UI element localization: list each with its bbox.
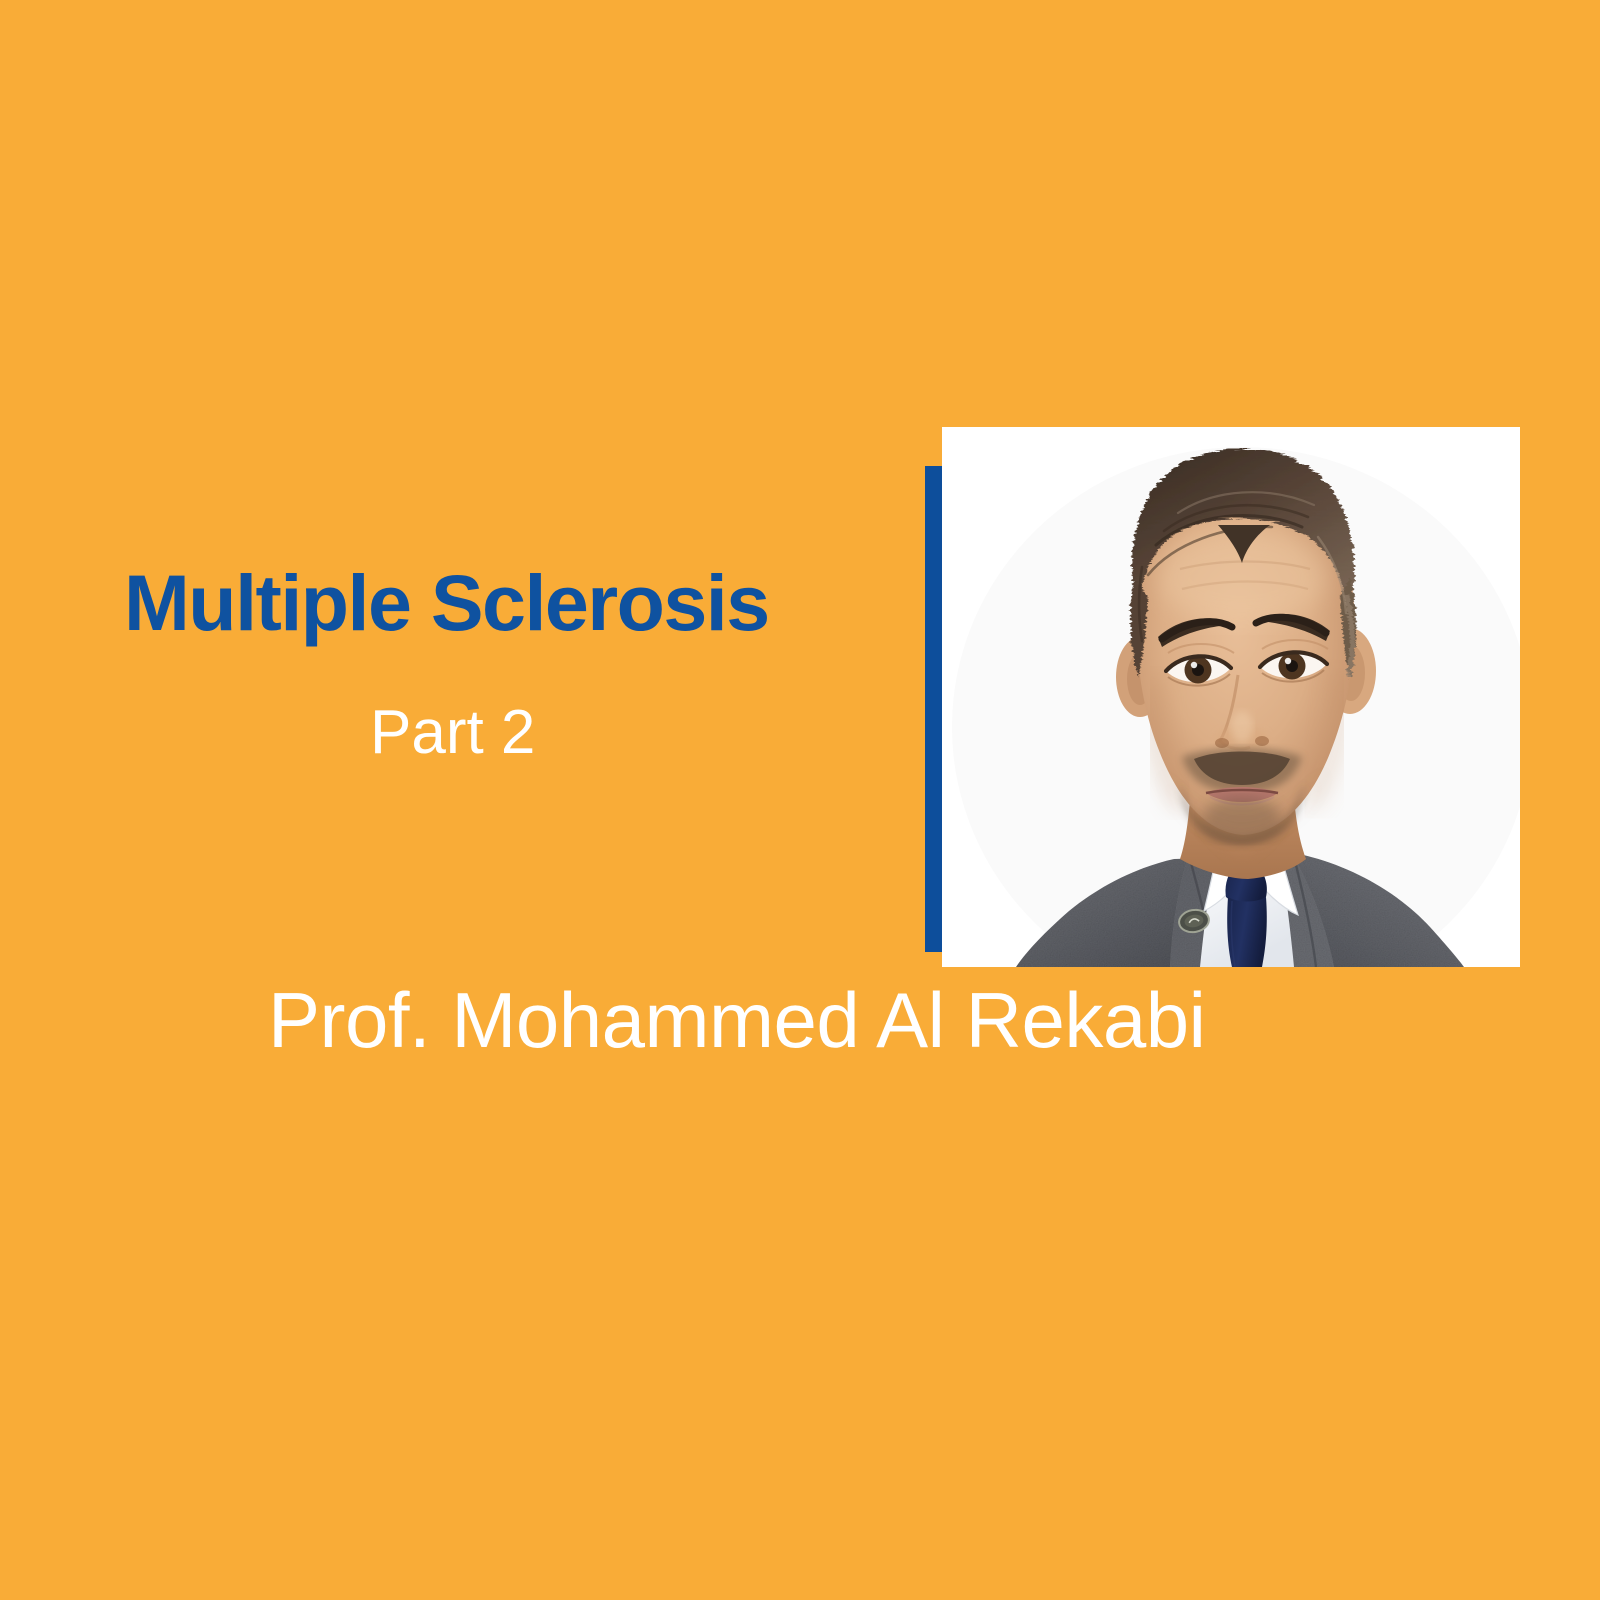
presentation-slide: Multiple Sclerosis Part 2 Prof. Mohammed…: [0, 0, 1600, 1600]
slide-subtitle: Part 2: [370, 700, 535, 765]
portrait-photo: [942, 427, 1520, 967]
presenter-name: Prof. Mohammed Al Rekabi: [268, 980, 1205, 1062]
portrait-frame: [942, 427, 1520, 967]
slide-title: Multiple Sclerosis: [124, 562, 769, 645]
